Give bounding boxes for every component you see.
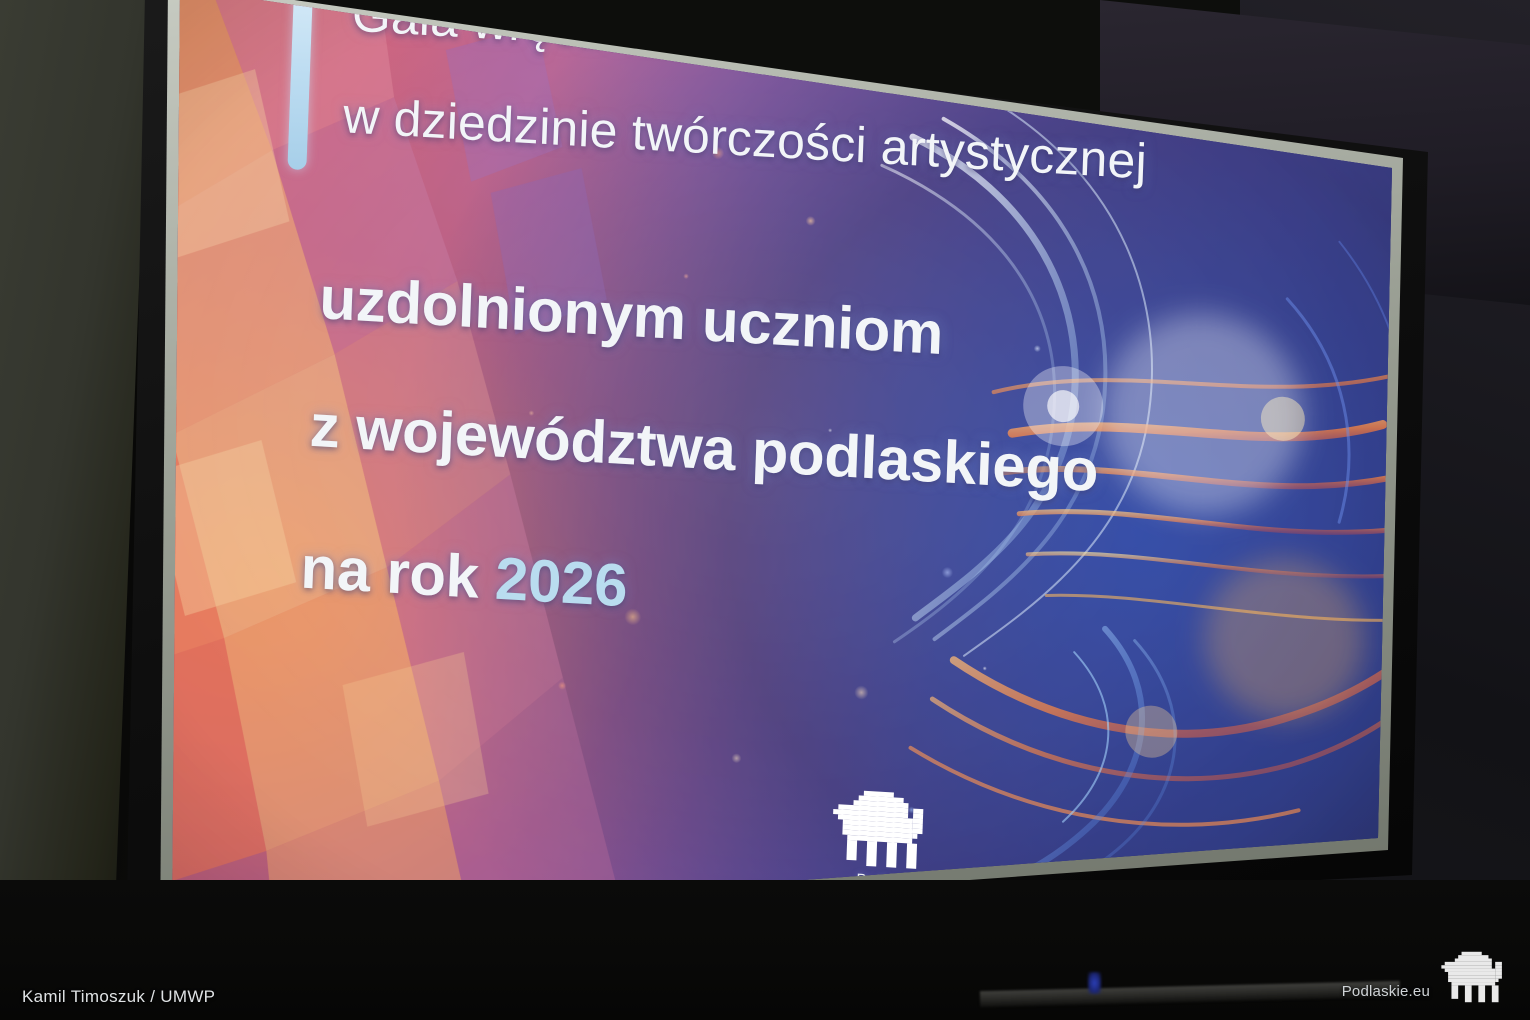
slide-subtitle-line-1: Gala wręczenia stypendiów xyxy=(351,0,966,78)
laptop-led-indicator xyxy=(1088,972,1101,994)
slide-year-line: na rok 2026 xyxy=(300,533,629,621)
pixel-bison-icon xyxy=(826,783,939,875)
slide-headline-line-2: z województwa podlaskiego xyxy=(309,391,1100,505)
slide-year-prefix: na rok xyxy=(300,534,497,612)
watermark-text: Podlaskie.eu xyxy=(1342,983,1430,1006)
site-watermark: Podlaskie.eu xyxy=(1342,948,1512,1006)
slide-subtitle-line-2: w dziedzinie twórczości artystycznej xyxy=(342,86,1148,190)
photo-scene: Gala wręczenia stypendiów w dziedzinie t… xyxy=(0,0,1530,1020)
pixel-bison-icon xyxy=(1438,948,1512,1006)
slide-year-value: 2026 xyxy=(494,545,629,620)
slide-headline-line-1: uzdolnionym uczniom xyxy=(318,263,944,368)
projection-screen: Gala wręczenia stypendiów w dziedzinie t… xyxy=(0,0,1530,1020)
accent-bar xyxy=(287,0,315,170)
photo-credit: Kamil Timoszuk / UMWP xyxy=(22,987,215,1007)
